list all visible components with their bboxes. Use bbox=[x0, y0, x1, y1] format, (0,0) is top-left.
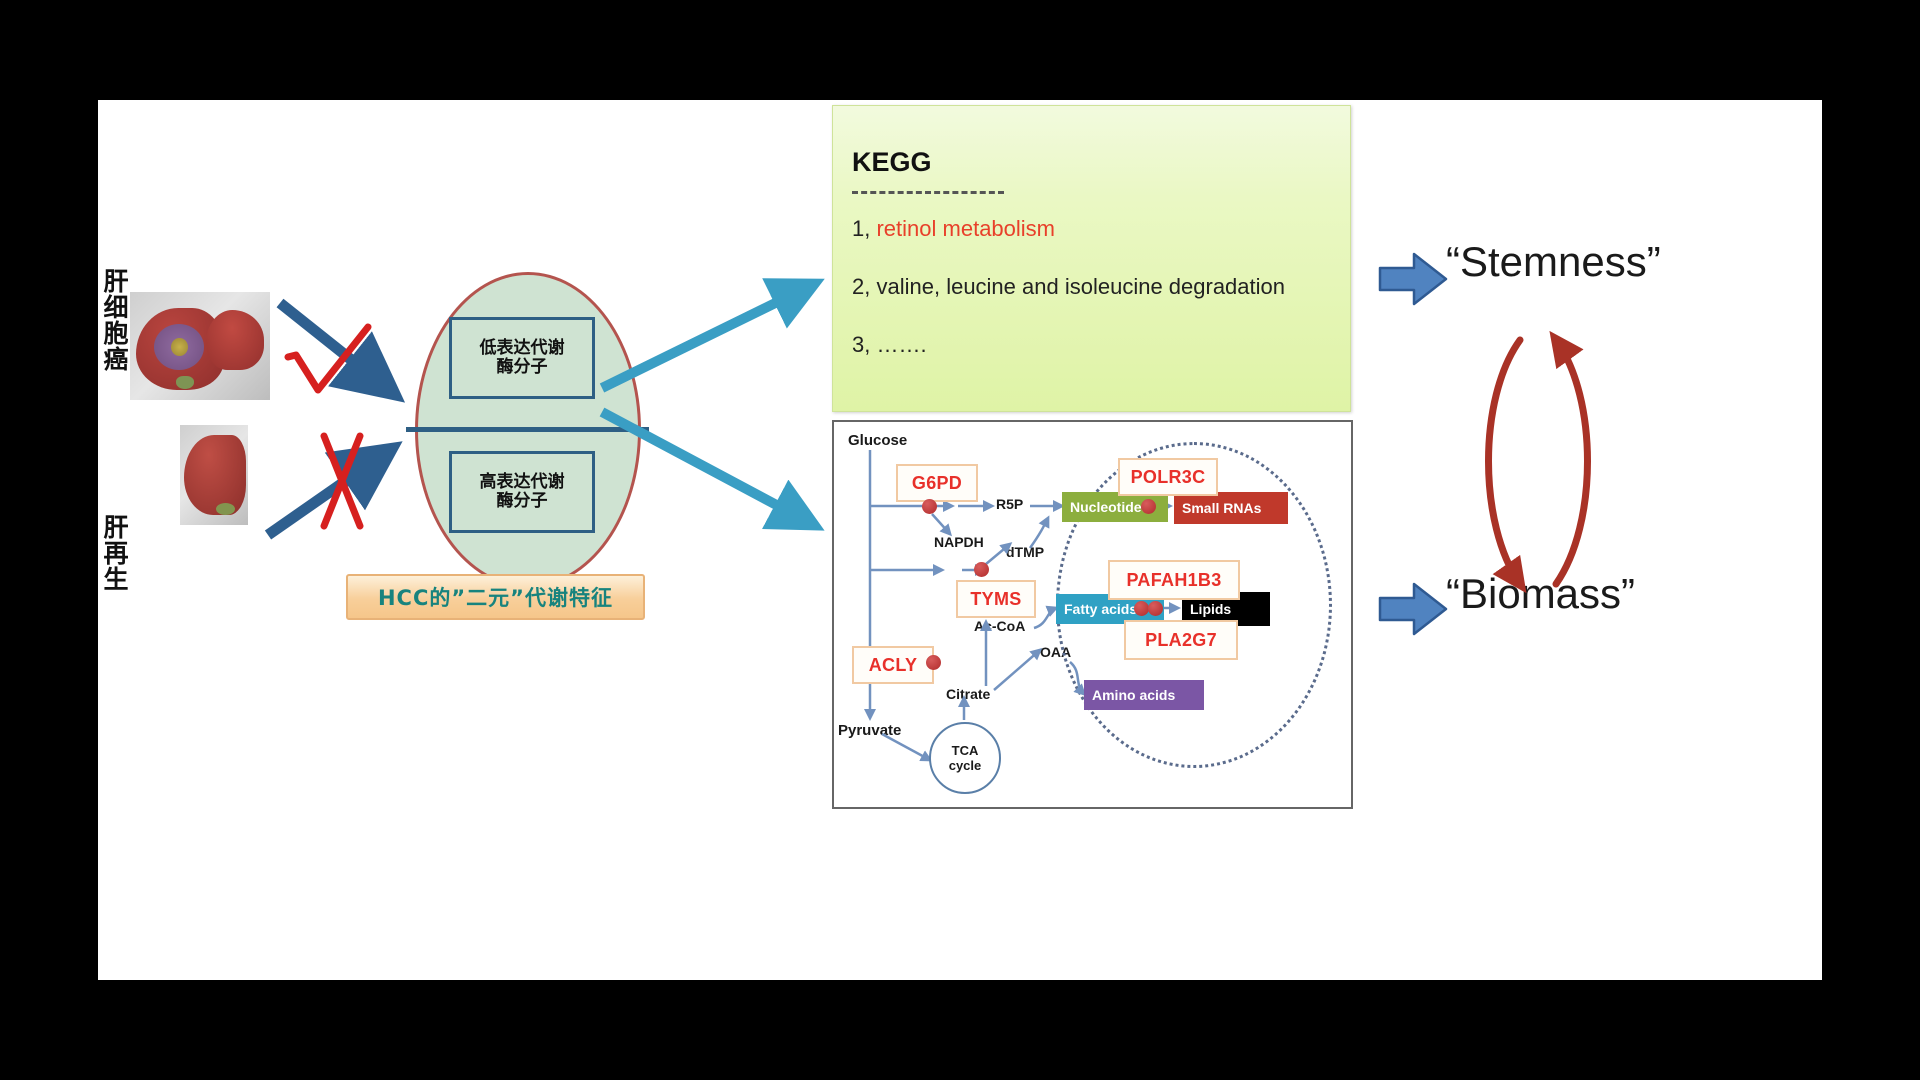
node-tca-cycle: TCA cycle bbox=[929, 722, 1001, 794]
figure-stage: 肝细胞癌 肝再生 bbox=[0, 0, 1920, 1080]
low-expression-line2: 酶分子 bbox=[452, 358, 592, 377]
product-amino-acids[interactable]: Amino acids bbox=[1084, 680, 1204, 710]
low-expression-line1: 低表达代谢 bbox=[452, 339, 592, 358]
high-expression-enzyme-box[interactable]: 高表达代谢 酶分子 bbox=[449, 451, 595, 533]
kegg-item-1-index: 1, bbox=[852, 216, 870, 241]
caption-text: HCC的”二元”代谢特征 bbox=[378, 582, 613, 612]
hcc-dual-metabolism-caption: HCC的”二元”代谢特征 bbox=[346, 574, 645, 620]
enzyme-dot-pafah1b3 bbox=[1134, 601, 1149, 616]
gene-tyms[interactable]: TYMS bbox=[956, 580, 1036, 618]
low-expression-enzyme-box[interactable]: 低表达代谢 酶分子 bbox=[449, 317, 595, 399]
kegg-item-1: 1, retinol metabolism bbox=[852, 216, 1055, 242]
label-hepatocellular-carcinoma: 肝细胞癌 bbox=[102, 268, 127, 398]
enzyme-dot-tyms bbox=[974, 562, 989, 577]
kegg-item-2-text: valine, leucine and isoleucine degradati… bbox=[876, 274, 1285, 299]
kegg-item-2-index: 2, bbox=[852, 274, 870, 299]
gene-polr3c[interactable]: POLR3C bbox=[1118, 458, 1218, 496]
kegg-item-3: 3, ……. bbox=[852, 332, 927, 358]
cross-mark-regeneration bbox=[310, 430, 380, 540]
kegg-item-3-index: 3, bbox=[852, 332, 870, 357]
bidirectional-cycle-arrow bbox=[1482, 318, 1692, 608]
kegg-item-2: 2, valine, leucine and isoleucine degrad… bbox=[852, 274, 1285, 300]
product-small-rnas[interactable]: Small RNAs bbox=[1174, 492, 1288, 524]
gene-g6pd[interactable]: G6PD bbox=[896, 464, 978, 502]
arrow-ellipse-to-pathway bbox=[596, 400, 846, 540]
high-expression-line1: 高表达代谢 bbox=[452, 473, 592, 492]
figure-canvas: 肝细胞癌 肝再生 bbox=[98, 100, 1822, 980]
arrow-ellipse-to-kegg bbox=[596, 270, 846, 400]
gene-pafah1b3[interactable]: PAFAH1B3 bbox=[1108, 560, 1240, 600]
metabolic-pathway-panel: Glucose R5P NAPDH dTMP Ac-CoA OAA Citrat… bbox=[832, 420, 1353, 809]
kegg-item-3-text: ……. bbox=[876, 332, 926, 357]
regenerating-liver-image bbox=[180, 425, 248, 525]
enzyme-dot-acly bbox=[926, 655, 941, 670]
block-arrow-stemness bbox=[1378, 250, 1450, 310]
label-liver-regeneration: 肝再生 bbox=[102, 514, 127, 614]
high-expression-line2: 酶分子 bbox=[452, 492, 592, 511]
enzyme-dot-polr3c bbox=[1141, 499, 1156, 514]
gene-pla2g7[interactable]: PLA2G7 bbox=[1124, 620, 1238, 660]
enzyme-dot-g6pd bbox=[922, 499, 937, 514]
tca-line1: TCA bbox=[952, 743, 979, 758]
block-arrow-biomass bbox=[1378, 580, 1450, 640]
kegg-title: KEGG bbox=[852, 147, 932, 178]
gene-acly[interactable]: ACLY bbox=[852, 646, 934, 684]
liver-with-tumor-image bbox=[130, 292, 270, 400]
tca-line2: cycle bbox=[949, 758, 982, 773]
kegg-divider bbox=[852, 191, 1004, 194]
outcome-label-stemness: “Stemness” bbox=[1446, 238, 1661, 286]
kegg-panel: KEGG 1, retinol metabolism 2, valine, le… bbox=[832, 105, 1351, 412]
cross-mark-carcinoma bbox=[282, 315, 392, 410]
kegg-item-1-text: retinol metabolism bbox=[876, 216, 1055, 241]
enzyme-dot-pla2g7 bbox=[1148, 601, 1163, 616]
